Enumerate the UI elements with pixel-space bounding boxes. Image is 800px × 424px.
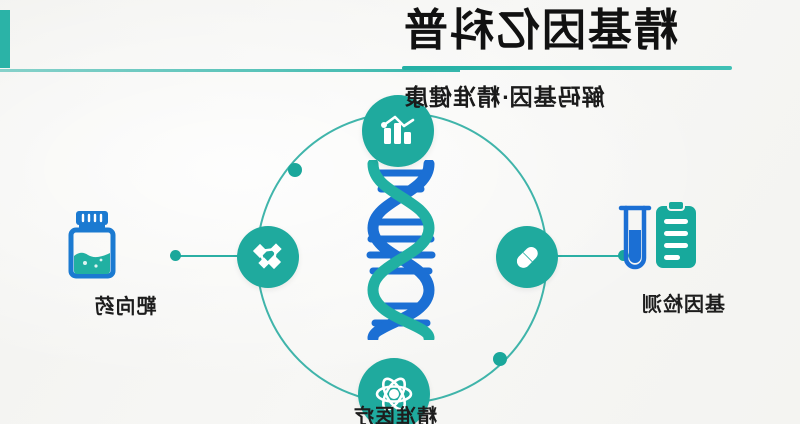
orbit-dot-upper-left (288, 163, 302, 177)
title-underline-rule (402, 66, 732, 70)
test-tube-clipboard-icon (608, 200, 758, 278)
page-title: 精基因亿科普 (402, 8, 678, 54)
header: 精基因亿科普 解码基因·精准健康 (380, 0, 800, 120)
side-item-genetic-testing[interactable]: 基因检测 (608, 200, 758, 317)
node-left-molecule[interactable] (237, 226, 299, 288)
side-item-right-label: 基因检测 (608, 288, 758, 317)
side-item-left-label: 靶向药 (60, 290, 190, 319)
orbit-dot-lower-right (493, 352, 507, 366)
pill-capsule-icon (510, 240, 544, 274)
node-right-medication[interactable] (496, 226, 558, 288)
medicine-bottle-icon (60, 208, 190, 280)
node-bottom-label: 精准医疗 (300, 400, 490, 424)
dna-double-helix-icon (337, 160, 465, 340)
infographic-canvas: 精基因亿科普 解码基因·精准健康 (0, 0, 800, 424)
page-subtitle: 解码基因·精准健康 (404, 78, 605, 112)
header-edge-accent-bar (0, 10, 10, 68)
molecule-network-icon (251, 240, 285, 274)
side-item-targeted-drug[interactable]: 靶向药 (60, 208, 190, 319)
